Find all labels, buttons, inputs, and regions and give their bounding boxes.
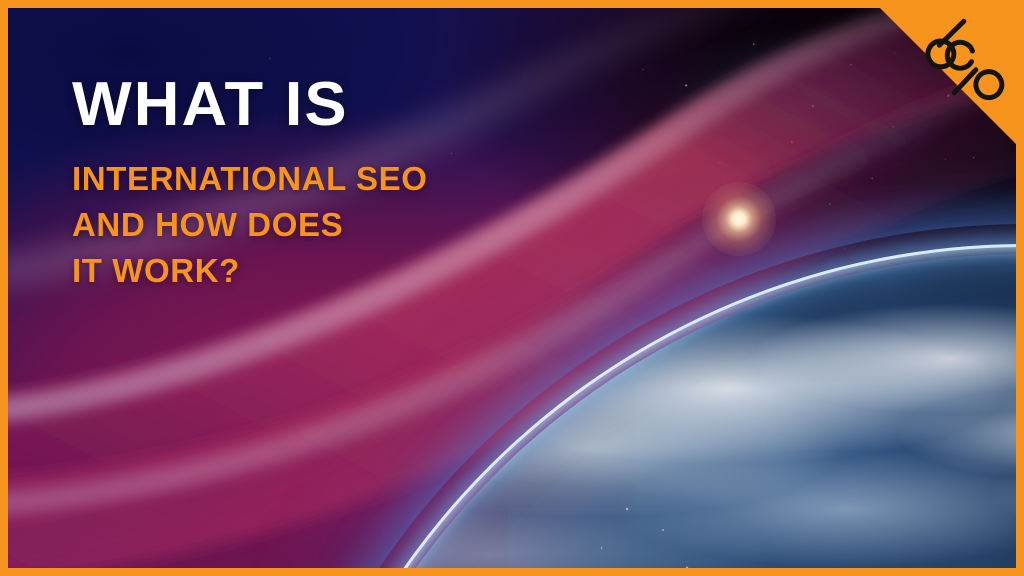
headline-block: WHAT IS INTERNATIONAL SEO AND HOW DOES I… [72,74,428,294]
headline-subtitle-list: INTERNATIONAL SEO AND HOW DOES IT WORK? [72,156,428,294]
nebula-tint-overlay [276,254,1016,568]
dcp-logo-icon[interactable] [912,16,1008,112]
headline-sub-line-3: IT WORK? [72,248,428,294]
headline-sub-line-2: AND HOW DOES [72,202,428,248]
headline-main: WHAT IS [72,74,435,136]
sun-flare-icon [702,182,776,256]
brand-corner-badge[interactable] [872,0,1024,152]
hero-banner: WHAT IS INTERNATIONAL SEO AND HOW DOES I… [0,0,1024,576]
cloud-layer [276,254,1016,568]
city-lights-layer [276,254,1016,568]
background-scene: WHAT IS INTERNATIONAL SEO AND HOW DOES I… [8,8,1016,568]
earth-surface [276,254,1016,568]
headline-sub-line-1: INTERNATIONAL SEO [72,156,428,202]
